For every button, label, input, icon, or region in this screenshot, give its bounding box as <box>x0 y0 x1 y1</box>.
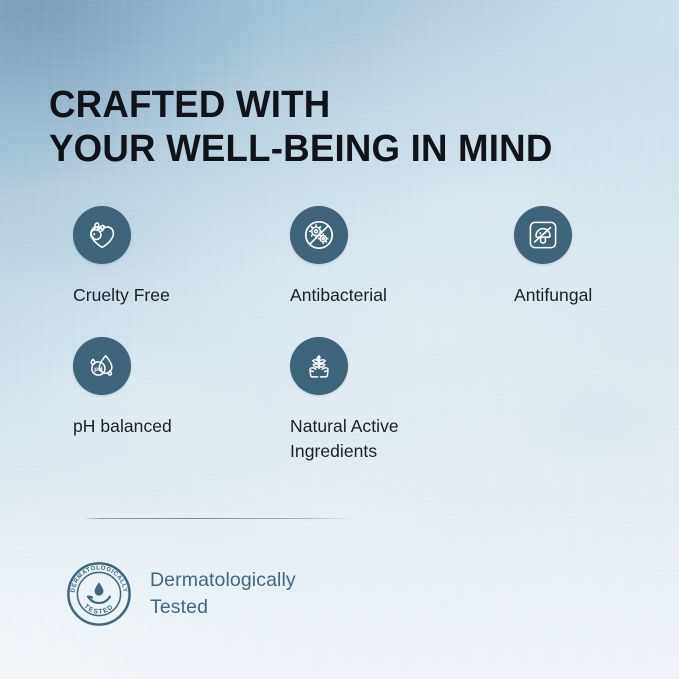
ph-droplet-icon: pH <box>84 348 120 384</box>
feature-icon-badge <box>290 337 348 395</box>
no-fungus-icon <box>525 217 561 253</box>
page-title-line-2: YOUR WELL-BEING IN MIND <box>49 127 553 171</box>
svg-text:pH: pH <box>94 366 103 373</box>
feature-icon-badge: pH <box>73 337 131 395</box>
feature-label: Natural Active Ingredients <box>290 414 399 464</box>
feature-label: pH balanced <box>73 414 172 439</box>
promo-canvas: CRAFTED WITHYOUR WELL-BEING IN MIND <box>0 0 679 679</box>
feature-ph-balanced: pH pH balanced <box>73 337 172 439</box>
feature-row-2: pH pH balanced <box>0 337 679 468</box>
dermatologically-tested-block: DERMATOLOGICALLY TESTED Dermatologically… <box>66 561 296 627</box>
no-bacteria-icon <box>301 217 337 253</box>
feature-antifungal: Antifungal <box>514 206 592 308</box>
dermatologically-tested-seal: DERMATOLOGICALLY TESTED <box>66 561 132 627</box>
svg-text:TESTED: TESTED <box>83 603 116 616</box>
page-title-line-1: CRAFTED WITH <box>49 84 330 126</box>
feature-label: Antifungal <box>514 283 592 308</box>
rabbit-heart-icon <box>84 217 120 253</box>
feature-antibacterial: Antibacterial <box>290 206 387 308</box>
feature-icon-badge <box>290 206 348 264</box>
feature-row-1: Cruelty Free <box>0 206 679 337</box>
feature-natural-active-ingredients: Natural Active Ingredients <box>290 337 399 464</box>
page-title: CRAFTED WITHYOUR WELL-BEING IN MIND <box>49 83 553 171</box>
feature-list: Cruelty Free <box>0 206 679 468</box>
feature-label: Antibacterial <box>290 283 387 308</box>
feature-label: Cruelty Free <box>73 283 170 308</box>
feature-icon-badge <box>514 206 572 264</box>
dermatologically-tested-label: Dermatologically Tested <box>150 567 296 621</box>
section-divider <box>82 518 354 519</box>
hands-sprout-icon <box>301 348 337 384</box>
feature-icon-badge <box>73 206 131 264</box>
content-layer: CRAFTED WITHYOUR WELL-BEING IN MIND <box>0 0 679 679</box>
feature-cruelty-free: Cruelty Free <box>73 206 170 308</box>
hand-droplet-icon <box>88 582 110 603</box>
seal-bottom-text: TESTED <box>83 603 116 616</box>
